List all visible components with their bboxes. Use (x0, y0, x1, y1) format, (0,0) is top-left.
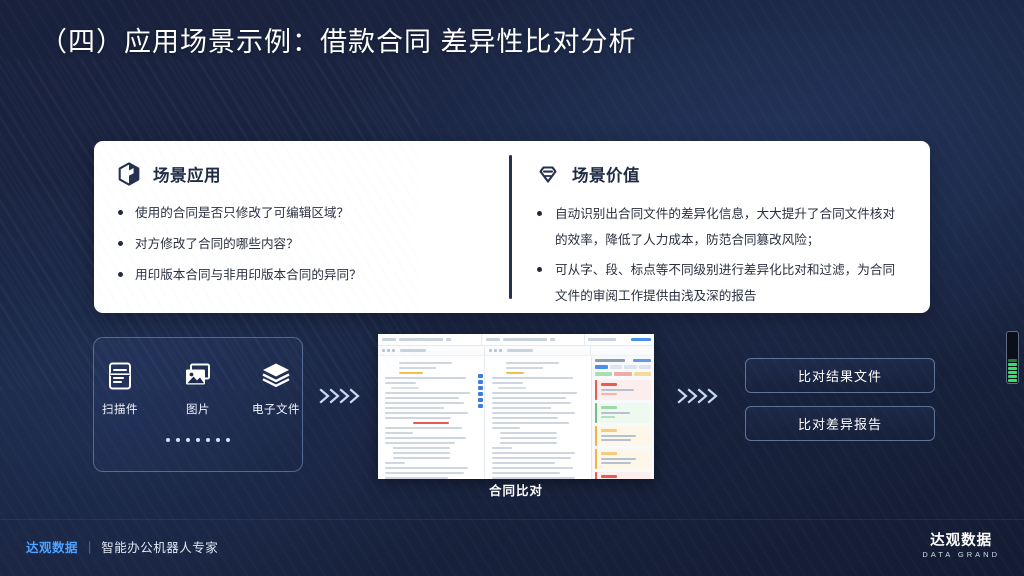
list-item: 用印版本合同与非用印版本合同的异同？ (116, 263, 509, 287)
diff-filter-tabs[interactable] (595, 365, 651, 369)
titlebar-sidebar (584, 334, 654, 345)
footer-divider (0, 519, 1024, 520)
section-header-value: 场景价值 (535, 161, 904, 187)
info-card: 场景应用 使用的合同是否只修改了可编辑区域？ 对方修改了合同的哪些内容？ 用印版… (94, 141, 930, 313)
chip-added[interactable] (595, 372, 612, 376)
section-title-value: 场景价值 (572, 162, 640, 186)
scanner-icon (94, 359, 146, 393)
more-sources-dots (94, 438, 302, 442)
diff-tab[interactable] (639, 365, 652, 369)
source-item-scan[interactable]: 扫描件 (94, 359, 146, 418)
title-text-block (486, 338, 500, 341)
card-column-application: 场景应用 使用的合同是否只修改了可编辑区域？ 对方修改了合同的哪些内容？ 用印版… (94, 141, 509, 313)
footer-tagline: 智能办公机器人专家 (101, 537, 218, 556)
layers-icon (250, 359, 302, 393)
gem-icon (535, 161, 561, 187)
section-title-application: 场景应用 (153, 162, 221, 186)
output-button-result-file[interactable]: 比对结果文件 (745, 358, 935, 393)
section-header-application: 场景应用 (116, 161, 509, 187)
screenshot-caption: 合同比对 (378, 480, 654, 499)
diff-tab[interactable] (595, 365, 608, 369)
screenshot-titlebar (378, 334, 654, 346)
document-pane-right[interactable] (484, 356, 591, 479)
chevrons-right-icon (676, 386, 722, 406)
dot (186, 438, 190, 442)
list-item: 可从字、段、标点等不同级别进行差异化比对和过滤，为合同文件的审阅工作提供由浅及深… (535, 257, 904, 309)
diff-sidebar-header (595, 359, 651, 362)
output-button-label: 比对结果文件 (798, 366, 882, 385)
input-sources-panel: 扫描件 图片 (93, 337, 303, 472)
toolbar-icon[interactable] (494, 349, 497, 352)
level-meter (1006, 331, 1019, 384)
chevrons-right-icon (318, 386, 364, 406)
dot (216, 438, 220, 442)
toolbar-icon[interactable] (499, 349, 502, 352)
titlebar-right (481, 334, 585, 345)
diff-tab[interactable] (624, 365, 637, 369)
toolbar-field[interactable] (400, 349, 426, 352)
diff-card[interactable] (595, 380, 651, 400)
diff-card[interactable] (595, 426, 651, 446)
diff-card[interactable] (595, 472, 651, 479)
toolbar-field[interactable] (507, 349, 533, 352)
rail-marker[interactable] (478, 398, 483, 402)
toolbar-right (484, 346, 591, 355)
toolbar-left (378, 346, 484, 355)
product-screenshot-thumbnail[interactable] (378, 334, 654, 479)
titlebar-left (378, 334, 481, 345)
dot (226, 438, 230, 442)
source-item-image[interactable]: 图片 (172, 359, 224, 418)
list-item: 使用的合同是否只修改了可编辑区域？ (116, 201, 509, 225)
source-label: 扫描件 (102, 404, 138, 416)
document-pane-left[interactable] (378, 356, 484, 479)
footer-logo-cn: 达观数据 (922, 533, 1000, 549)
slide-root: （四）应用场景示例：借款合同 差异性比对分析 场景应用 使用的合同是否只修改了可… (0, 0, 1024, 576)
dot (176, 438, 180, 442)
footer-brand: 达观数据 (26, 537, 78, 556)
page-title: （四）应用场景示例：借款合同 差异性比对分析 (40, 20, 637, 59)
cube-icon (116, 161, 142, 187)
card-column-value: 场景价值 自动识别出合同文件的差异化信息，大大提升了合同文件核对的效率，降低了人… (509, 141, 930, 313)
output-button-label: 比对差异报告 (798, 414, 882, 433)
dot (196, 438, 200, 442)
title-text-block (382, 338, 396, 341)
title-file-block (399, 338, 443, 341)
meter-segment (1008, 363, 1017, 366)
source-label: 电子文件 (252, 404, 300, 416)
diff-tab[interactable] (610, 365, 623, 369)
meter-segment (1008, 371, 1017, 374)
title-close-block (446, 338, 451, 341)
output-button-diff-report[interactable]: 比对差异报告 (745, 406, 935, 441)
list-item: 自动识别出合同文件的差异化信息，大大提升了合同文件核对的效率，降低了人力成本，防… (535, 201, 904, 253)
diff-navigator-rail[interactable] (478, 374, 483, 408)
rail-marker[interactable] (478, 374, 483, 378)
dot (166, 438, 170, 442)
title-file-block (503, 338, 547, 341)
meter-segment (1008, 379, 1017, 382)
flow-arrow-left (318, 386, 364, 406)
rail-marker[interactable] (478, 380, 483, 384)
meter-segment (1008, 367, 1017, 370)
image-icon (172, 359, 224, 393)
toolbar-icon[interactable] (382, 349, 385, 352)
toolbar-sidebar-spacer (590, 346, 654, 355)
dot (206, 438, 210, 442)
chip-deleted[interactable] (614, 372, 631, 376)
toolbar-icon[interactable] (392, 349, 395, 352)
screenshot-body (378, 356, 654, 479)
sidebar-action-block (631, 338, 651, 341)
rail-marker[interactable] (478, 386, 483, 390)
title-close-block (550, 338, 555, 341)
footer-logo-en: DATA GRAND (922, 549, 1000, 560)
footer-logo: 达观数据 DATA GRAND (922, 533, 1000, 560)
toolbar-icon[interactable] (489, 349, 492, 352)
diff-sidebar-action[interactable] (633, 359, 651, 362)
diff-type-chips[interactable] (595, 372, 651, 376)
rail-marker[interactable] (478, 392, 483, 396)
diff-sidebar-title (595, 359, 625, 362)
rail-marker[interactable] (478, 404, 483, 408)
diff-sidebar[interactable] (591, 356, 654, 479)
value-bullet-list: 自动识别出合同文件的差异化信息，大大提升了合同文件核对的效率，降低了人力成本，防… (535, 201, 904, 309)
flow-arrow-right (676, 386, 722, 406)
meter-segment (1008, 375, 1017, 378)
diff-card[interactable] (595, 449, 651, 469)
chip-changed[interactable] (634, 372, 651, 376)
sidebar-title-block (588, 338, 616, 341)
screenshot-toolbar (378, 346, 654, 356)
footer-left: 达观数据 | 智能办公机器人专家 (26, 537, 218, 556)
list-item: 对方修改了合同的哪些内容？ (116, 232, 509, 256)
input-sources-list: 扫描件 图片 (94, 338, 302, 418)
diff-card[interactable] (595, 403, 651, 423)
source-item-efile[interactable]: 电子文件 (250, 359, 302, 418)
meter-segment (1008, 359, 1017, 362)
application-bullet-list: 使用的合同是否只修改了可编辑区域？ 对方修改了合同的哪些内容？ 用印版本合同与非… (116, 201, 509, 287)
source-label: 图片 (186, 404, 210, 416)
footer-separator: | (88, 540, 91, 554)
toolbar-icon[interactable] (387, 349, 390, 352)
